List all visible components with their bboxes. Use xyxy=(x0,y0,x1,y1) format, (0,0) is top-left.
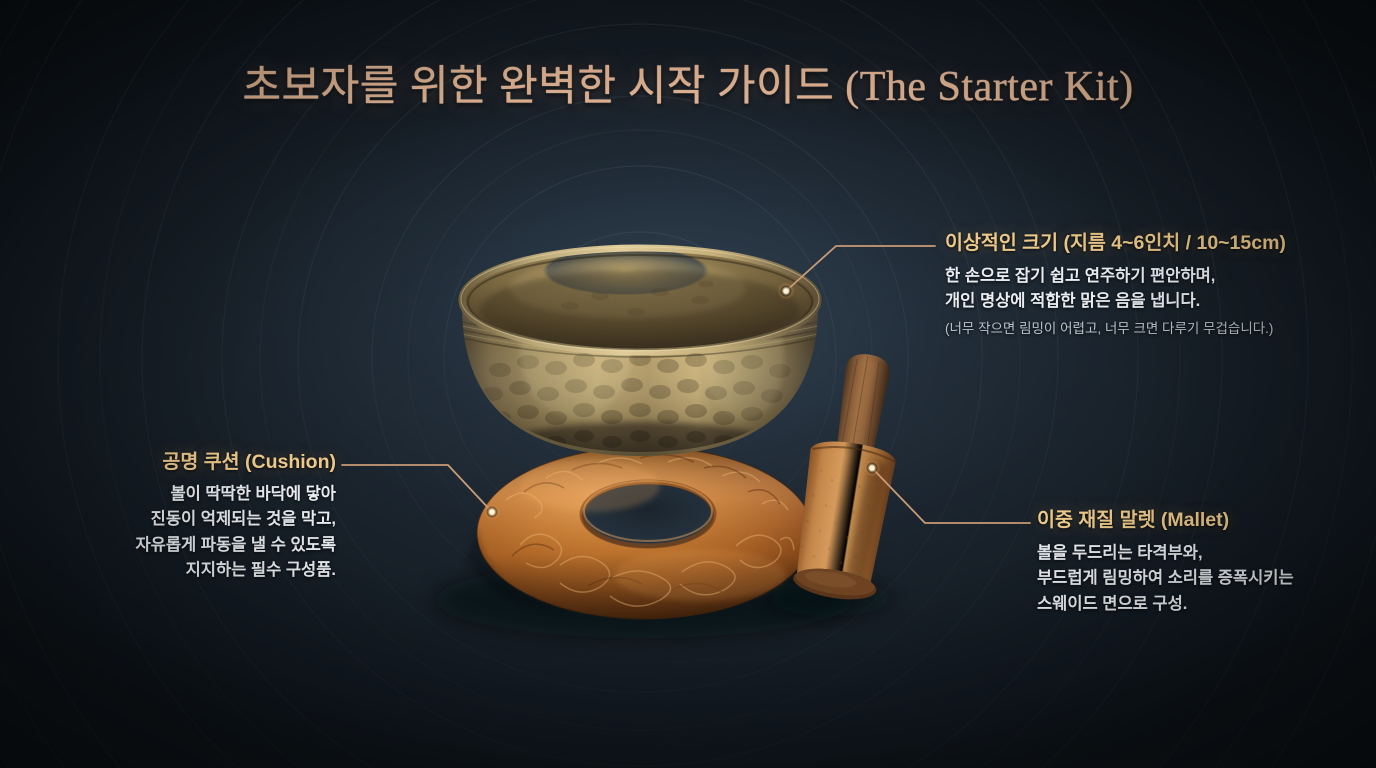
leader-line-mallet xyxy=(872,468,1030,523)
callout-mallet-heading: 이중 재질 말렛 (Mallet) xyxy=(1037,508,1294,532)
callout-mallet-body-line-3: 스웨이드 면으로 구성. xyxy=(1037,592,1294,617)
callout-cushion-body: 볼이 딱딱한 바닥에 닿아 진동이 억제되는 것을 막고, 자유롭게 파동을 낼… xyxy=(136,482,337,582)
callout-size-body-line-1: 한 손으로 잡기 쉽고 연주하기 편안하며, xyxy=(945,264,1286,289)
callout-leader-lines xyxy=(0,0,1376,768)
callout-mallet-body-line-1: 볼을 두드리는 타격부와, xyxy=(1037,541,1294,566)
leader-line-cushion xyxy=(342,465,492,512)
callout-mallet: 이중 재질 말렛 (Mallet) 볼을 두드리는 타격부와, 부드럽게 림밍하… xyxy=(1037,508,1294,617)
callout-cushion-body-line-2: 진동이 억제되는 것을 막고, xyxy=(136,507,337,532)
callout-cushion-heading: 공명 쿠션 (Cushion) xyxy=(136,450,337,474)
callout-mallet-body-line-2: 부드럽게 림밍하여 소리를 증폭시키는 xyxy=(1037,566,1294,591)
callout-size-note: (너무 작으면 림밍이 어렵고, 너무 크면 다루기 무겁습니다.) xyxy=(945,319,1286,339)
callout-size: 이상적인 크기 (지름 4~6인치 / 10~15cm) 한 손으로 잡기 쉽고… xyxy=(945,231,1286,338)
callout-mallet-body: 볼을 두드리는 타격부와, 부드럽게 림밍하여 소리를 증폭시키는 스웨이드 면… xyxy=(1037,541,1294,616)
leader-line-size xyxy=(786,246,935,291)
callout-cushion: 공명 쿠션 (Cushion) 볼이 딱딱한 바닥에 닿아 진동이 억제되는 것… xyxy=(136,450,337,583)
callout-cushion-body-line-4: 지지하는 필수 구성품. xyxy=(136,558,337,583)
slide-canvas: 초보자를 위한 완벽한 시작 가이드 (The Starter Kit) 이상적… xyxy=(0,0,1376,768)
callout-cushion-body-line-3: 자유롭게 파동을 낼 수 있도록 xyxy=(136,533,337,558)
callout-size-heading: 이상적인 크기 (지름 4~6인치 / 10~15cm) xyxy=(945,231,1286,255)
callout-cushion-body-line-1: 볼이 딱딱한 바닥에 닿아 xyxy=(136,482,337,507)
callout-size-body: 한 손으로 잡기 쉽고 연주하기 편안하며, 개인 명상에 적합한 맑은 음을 … xyxy=(945,264,1286,314)
callout-size-body-line-2: 개인 명상에 적합한 맑은 음을 냅니다. xyxy=(945,289,1286,314)
